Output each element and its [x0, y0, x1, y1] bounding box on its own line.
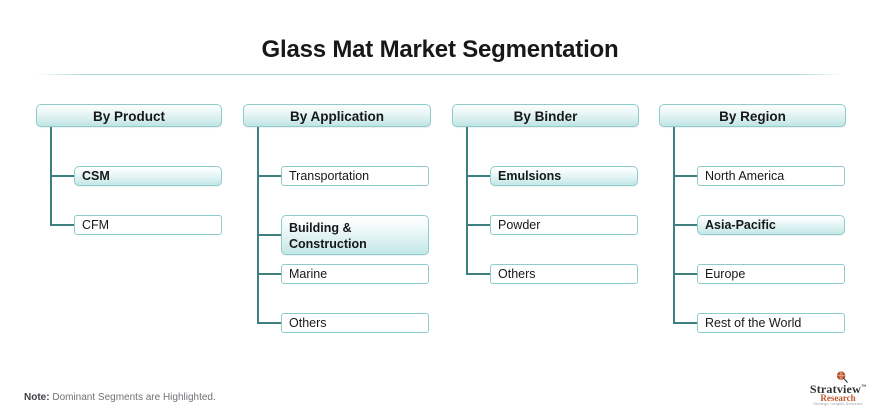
- segment-item[interactable]: Transportation: [281, 166, 429, 186]
- segment-item[interactable]: Others: [281, 313, 429, 333]
- segment-item-label: Europe: [705, 264, 745, 284]
- connector-branch: [257, 234, 284, 236]
- segment-item-label: Building & Construction: [289, 220, 367, 252]
- segment-item-label: Transportation: [289, 166, 369, 186]
- segment-item[interactable]: Powder: [490, 215, 638, 235]
- segment-column-by-region: By RegionNorth AmericaAsia-PacificEurope…: [659, 104, 846, 127]
- segment-item-highlighted[interactable]: Building & Construction: [281, 215, 429, 255]
- segment-item-highlighted[interactable]: Emulsions: [490, 166, 638, 186]
- segment-item[interactable]: Others: [490, 264, 638, 284]
- segment-item[interactable]: Europe: [697, 264, 845, 284]
- connector-branch: [673, 273, 700, 275]
- connector-branch: [466, 273, 493, 275]
- segment-item[interactable]: Marine: [281, 264, 429, 284]
- column-header-by-application[interactable]: By Application: [243, 104, 431, 127]
- connector-branch: [257, 322, 284, 324]
- segment-column-by-binder: By BinderEmulsionsPowderOthers: [452, 104, 639, 127]
- column-header-by-product[interactable]: By Product: [36, 104, 222, 127]
- segment-item-label: CSM: [82, 166, 110, 186]
- segment-item-label: Emulsions: [498, 166, 561, 186]
- connector-branch: [466, 175, 493, 177]
- logo-trademark: ™: [861, 385, 866, 390]
- segment-item-label: North America: [705, 166, 784, 186]
- footnote-text: Dominant Segments are Highlighted.: [50, 392, 216, 403]
- footnote: Note: Dominant Segments are Highlighted.: [24, 392, 216, 403]
- connector-branch: [673, 322, 700, 324]
- footnote-prefix: Note:: [24, 392, 50, 403]
- segment-item-label: Asia-Pacific: [705, 215, 776, 235]
- segment-item-label: Others: [289, 313, 327, 333]
- segment-item-label: Rest of the World: [705, 313, 801, 333]
- segment-item-label: Powder: [498, 215, 540, 235]
- connector-branch: [257, 175, 284, 177]
- connector-branch: [257, 273, 284, 275]
- segmentation-infographic: Glass Mat Market Segmentation By Product…: [0, 0, 880, 412]
- connector-branch: [673, 175, 700, 177]
- segment-item-label: Marine: [289, 264, 327, 284]
- column-header-by-region[interactable]: By Region: [659, 104, 846, 127]
- connector-trunk: [466, 127, 468, 274]
- segment-item[interactable]: North America: [697, 166, 845, 186]
- connector-branch: [466, 224, 493, 226]
- connector-branch: [50, 175, 77, 177]
- segment-column-by-product: By ProductCSMCFM: [36, 104, 222, 127]
- segment-item-highlighted[interactable]: Asia-Pacific: [697, 215, 845, 235]
- stratview-logo: Stratview™ Research Strategic Insights D…: [802, 370, 874, 406]
- connector-branch: [50, 224, 77, 226]
- segment-item-label: CFM: [82, 215, 109, 235]
- logo-tagline: Strategic Insights Delivered: [802, 402, 874, 406]
- column-header-by-binder[interactable]: By Binder: [452, 104, 639, 127]
- connector-branch: [673, 224, 700, 226]
- segment-item-highlighted[interactable]: CSM: [74, 166, 222, 186]
- connector-trunk: [257, 127, 259, 323]
- segment-item[interactable]: CFM: [74, 215, 222, 235]
- segment-item-label: Others: [498, 264, 536, 284]
- segment-item[interactable]: Rest of the World: [697, 313, 845, 333]
- segmentation-columns: By ProductCSMCFMBy ApplicationTransporta…: [0, 0, 880, 412]
- segment-column-by-application: By ApplicationTransportationBuilding & C…: [243, 104, 431, 127]
